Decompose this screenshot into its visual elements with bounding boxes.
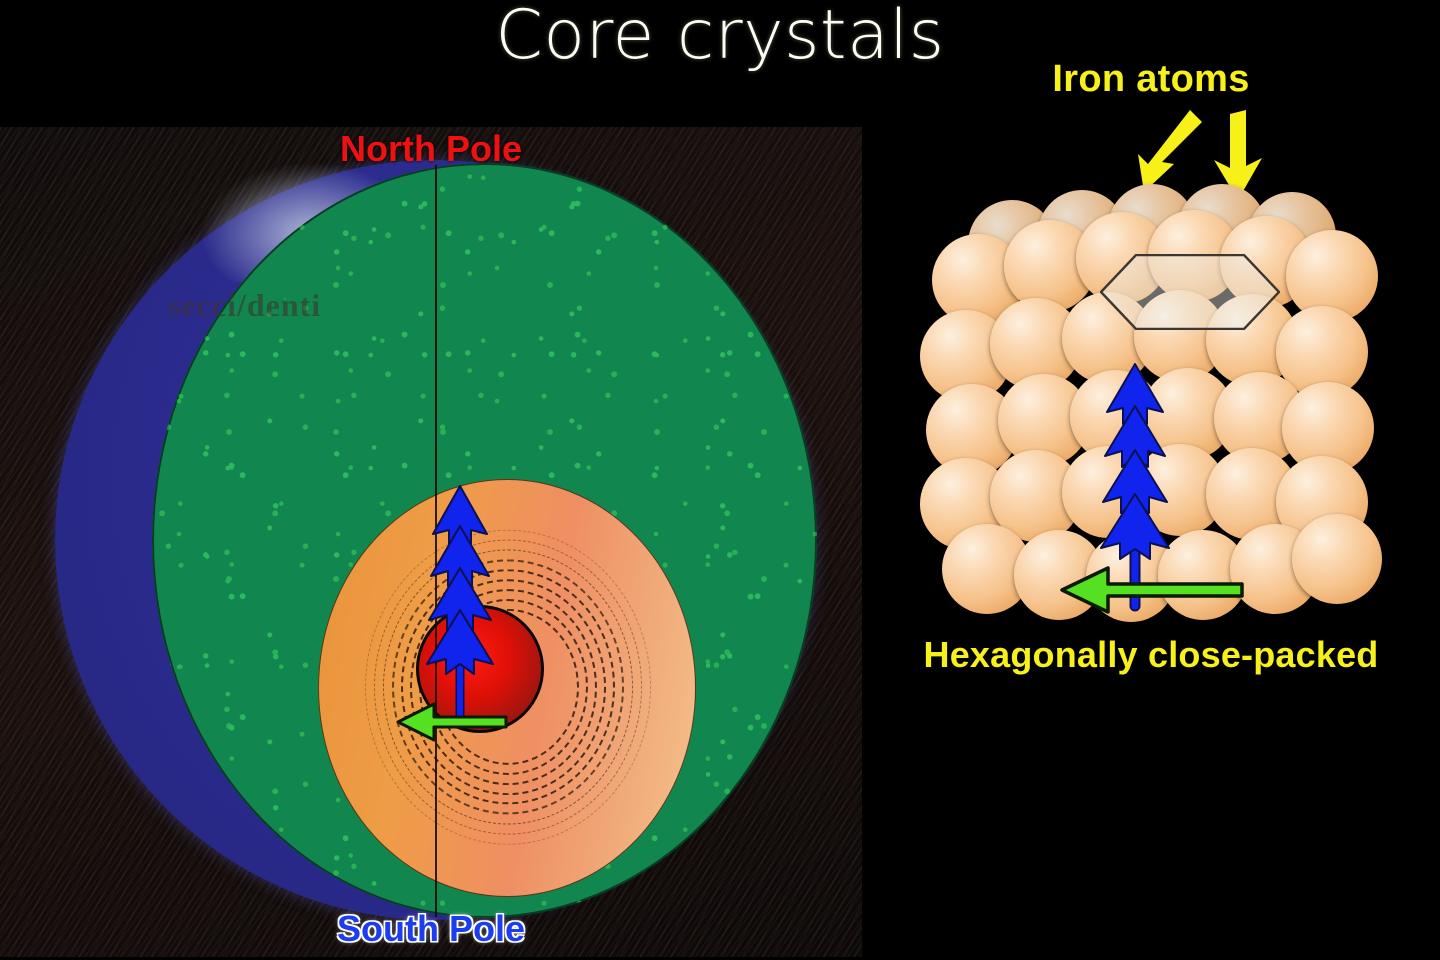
slide-canvas: Core crystals secci/denti	[0, 0, 1440, 960]
basal-plane-hexagon	[1100, 254, 1280, 330]
crystal-structure-panel: Iron atoms	[862, 0, 1440, 960]
iron-atom	[1292, 514, 1382, 604]
iron-atoms-label: Iron atoms	[862, 58, 1440, 101]
south-pole-label: South Pole	[0, 908, 862, 950]
earth-a-axis-arrow	[388, 692, 513, 752]
hcp-structure-caption: Hexagonally close-packed	[860, 634, 1440, 676]
earth-cutaway-panel: secci/denti	[0, 127, 862, 957]
north-pole-label-top: North Pole	[0, 128, 862, 170]
crystal-a-axis-arrow	[1050, 560, 1250, 622]
